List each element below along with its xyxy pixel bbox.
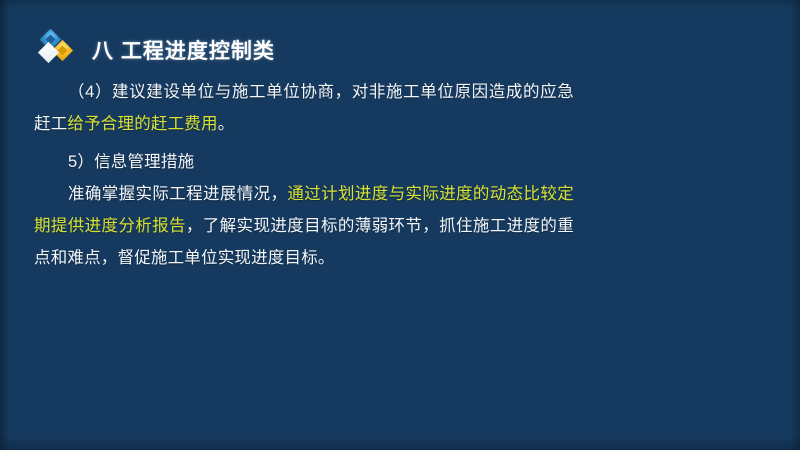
paragraph-5-heading: 5）信息管理措施	[34, 146, 574, 178]
text-run: 。	[218, 115, 235, 133]
paragraph-5-body: 准确掌握实际工程进展情况，通过计划进度与实际进度的动态比较定期提供进度分析报告，…	[34, 178, 574, 274]
page-title: 八 工程进度控制类	[92, 35, 275, 65]
three-diamond-logo-icon	[38, 30, 84, 70]
slide-title-row: 八 工程进度控制类	[38, 28, 275, 72]
text-run: 准确掌握实际工程进展情况，	[68, 185, 287, 203]
slide-body: （4）建议建设单位与施工单位协商，对非施工单位原因造成的应急赶工给予合理的赶工费…	[34, 76, 574, 274]
highlighted-text-run: 给予合理的赶工费用	[67, 115, 217, 133]
paragraph-4: （4）建议建设单位与施工单位协商，对非施工单位原因造成的应急赶工给予合理的赶工费…	[34, 76, 574, 140]
slide-canvas: 八 工程进度控制类 （4）建议建设单位与施工单位协商，对非施工单位原因造成的应急…	[0, 0, 800, 450]
text-run: 5）信息管理措施	[68, 153, 194, 171]
